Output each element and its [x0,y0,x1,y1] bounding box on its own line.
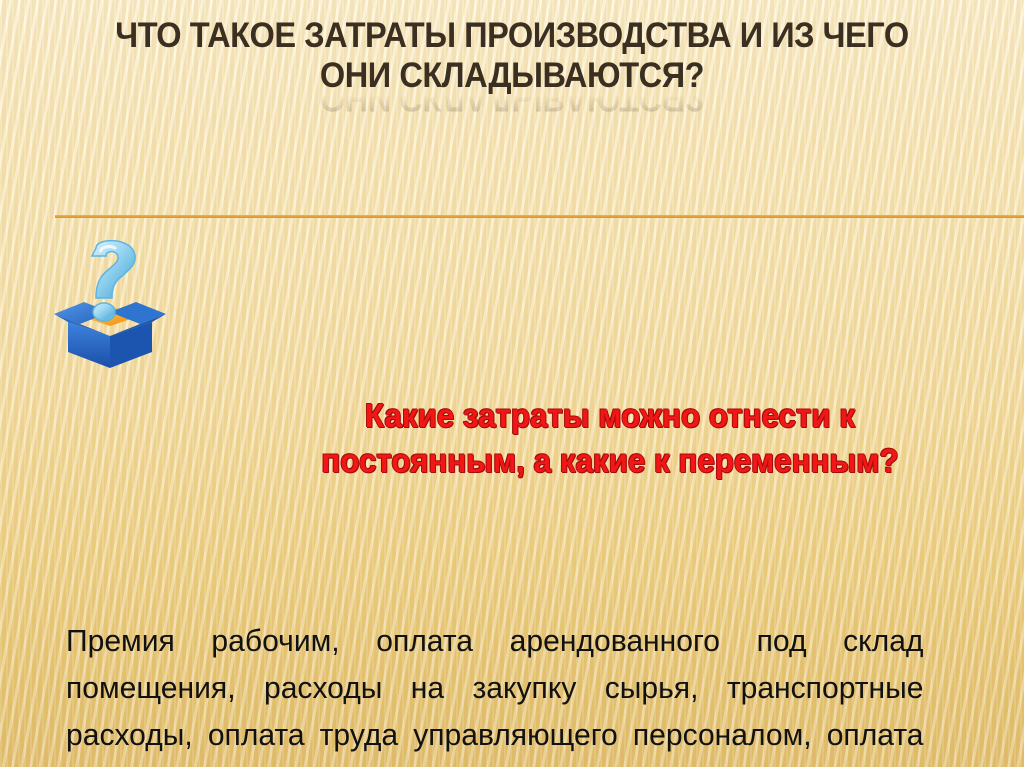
title-reflection: ОНИ СКЛАДЫВАЮТСЯ? [36,92,988,118]
title-line-2: ОНИ СКЛАДЫВАЮТСЯ? [36,56,988,96]
question-line-2: постоянным, а какие к переменным? [259,438,962,483]
body-paragraph: Премия рабочим, оплата арендованного под… [66,617,923,767]
question-mark-box-icon [50,240,170,370]
title-divider-rule [55,215,1024,218]
presentation-slide: ЧТО ТАКОЕ ЗАТРАТЫ ПРОИЗВОДСТВА И ИЗ ЧЕГО… [0,0,1024,767]
title-line-1: ЧТО ТАКОЕ ЗАТРАТЫ ПРОИЗВОДСТВА И ИЗ ЧЕГО [36,16,988,56]
question-line-1: Какие затраты можно отнести к [259,393,962,438]
highlighted-question: Какие затраты можно отнести к постоянным… [259,393,962,483]
slide-title: ЧТО ТАКОЕ ЗАТРАТЫ ПРОИЗВОДСТВА И ИЗ ЧЕГО… [0,16,1024,118]
